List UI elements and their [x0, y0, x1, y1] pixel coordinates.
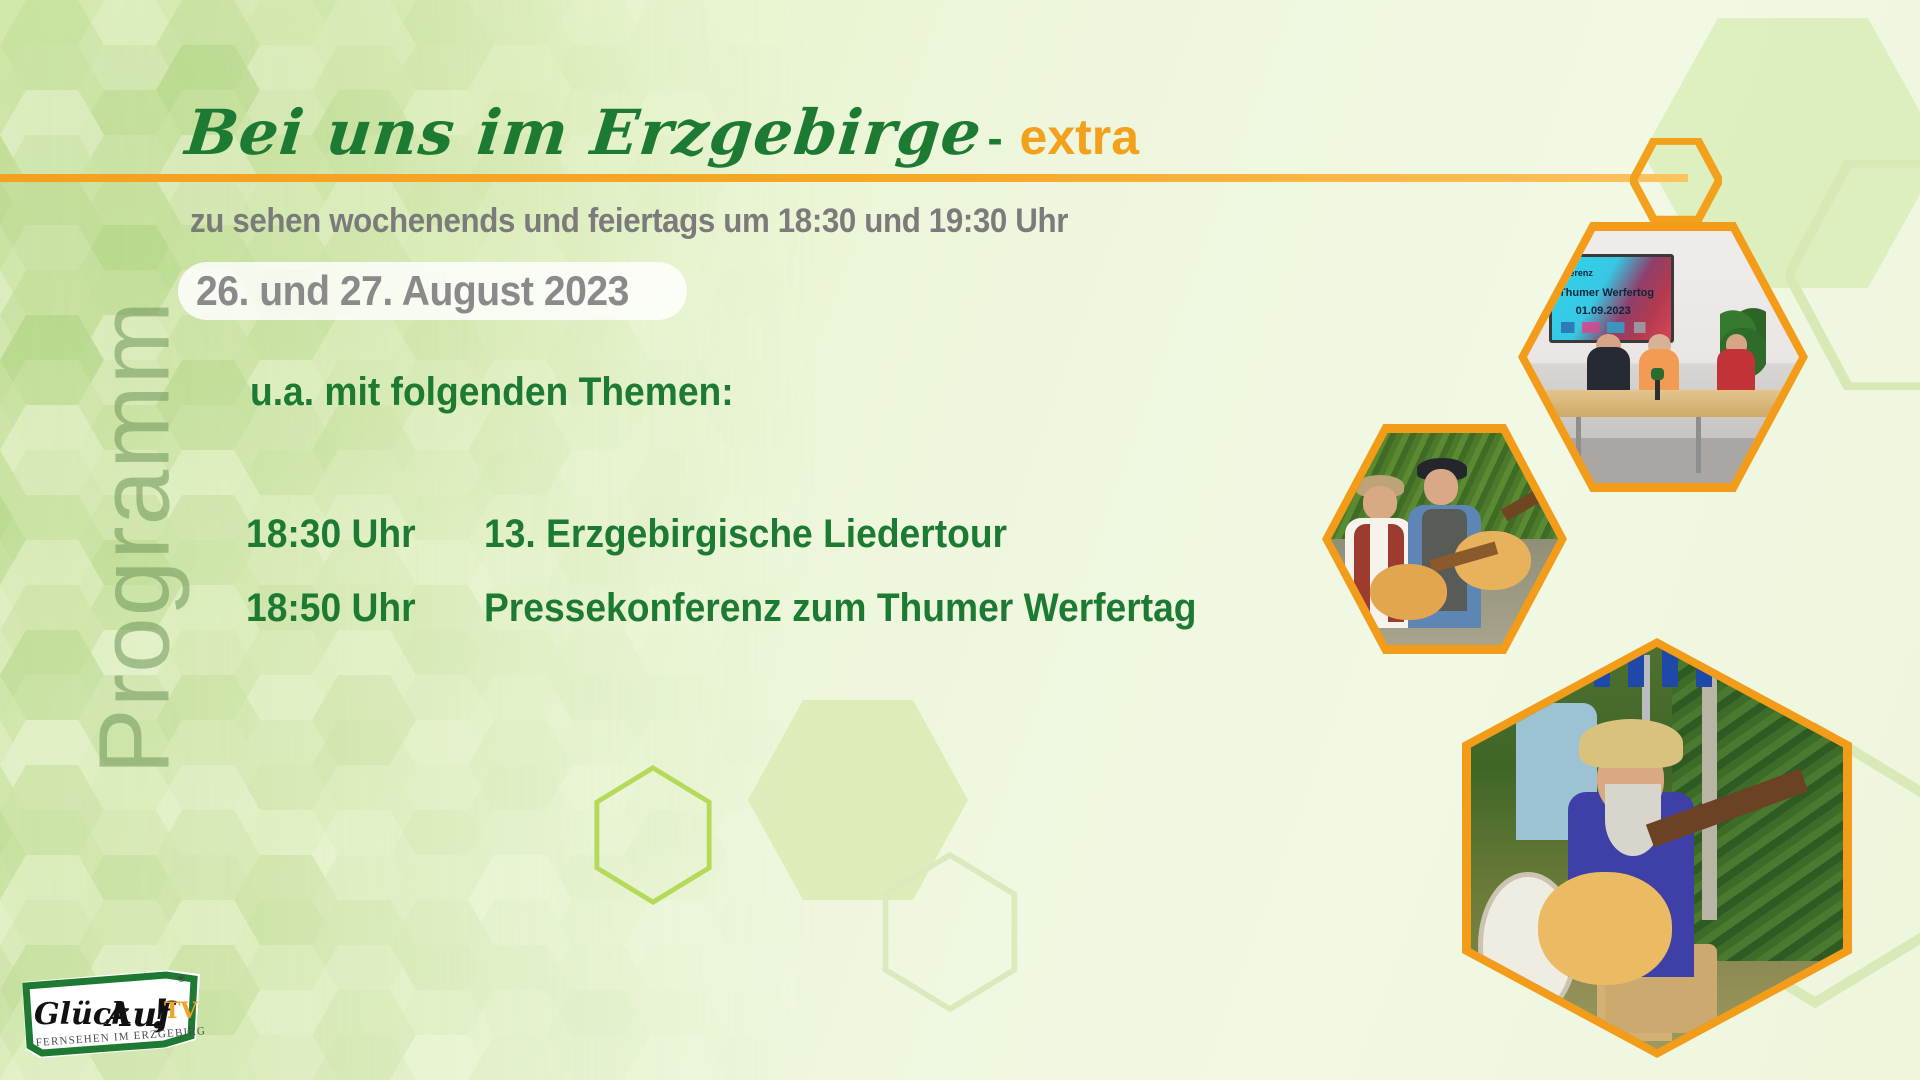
page-title: Bei uns im Erzgebirge-extra	[182, 96, 1143, 169]
header-divider-rule	[0, 174, 1688, 182]
schedule-time: 18:30 Uhr	[246, 512, 467, 557]
honeycomb-cell	[858, 270, 962, 360]
hexagon-photo-clip	[1471, 647, 1843, 1049]
musician1-head	[1363, 486, 1397, 520]
honeycomb-cell	[858, 1035, 962, 1080]
topics-intro-text: u.a. mit folgenden Themen:	[250, 370, 734, 415]
title-dash: -	[987, 111, 1003, 165]
air-date-text: 26. und 27. August 2023	[196, 267, 629, 315]
logo-registered-mark: ®	[178, 974, 185, 984]
schedule-row: 18:50 UhrPressekonferenz zum Thumer Werf…	[246, 586, 1250, 660]
broadcast-times-subtitle: zu sehen wochenends und feiertags um 18:…	[190, 202, 1068, 241]
schedule-list: 18:30 Uhr13. Erzgebirgische Liedertour18…	[246, 512, 1250, 660]
guitar1-body	[1370, 564, 1447, 619]
guitar-body	[1538, 872, 1672, 985]
title-extra-text: extra	[1020, 108, 1140, 166]
musician2-head	[1424, 469, 1458, 505]
broadcast-programme-slide: Bei uns im Erzgebirge-extra zu sehen woc…	[0, 0, 1920, 1080]
title-main-text: Bei uns im Erzgebirge	[182, 96, 985, 169]
schedule-title: Pressekonferenz zum Thumer Werfertag	[484, 586, 1197, 631]
screen-caption-line3: 01.09.2023	[1576, 305, 1631, 317]
air-date-badge: 26. und 27. August 2023	[178, 262, 687, 320]
honeycomb-cell	[858, 360, 962, 450]
tree-trunk	[1702, 671, 1717, 920]
schedule-row: 18:30 Uhr13. Erzgebirgische Liedertour	[246, 512, 1250, 586]
microphone-head	[1651, 368, 1665, 379]
orange-hexagon-accent-icon	[1630, 138, 1722, 222]
logo-tv-text: TV	[164, 998, 198, 1024]
photo-hexagon-two-musicians[interactable]	[1322, 424, 1567, 654]
conference-table	[1532, 390, 1793, 418]
schedule-title: 13. Erzgebirgische Liedertour	[484, 512, 1007, 557]
bearded-guitarist-scene	[1471, 647, 1843, 1049]
sponsor-logo-strip	[1561, 322, 1657, 334]
photo-hexagon-bearded-guitarist[interactable]	[1462, 638, 1852, 1058]
glueckauf-tv-logo[interactable]: Glück Auf ! TV ® FERNSEHEN IM ERZGEBIRGE	[18, 966, 206, 1062]
schedule-time: 18:50 Uhr	[246, 586, 467, 631]
decorative-hexagon-outline-bright	[592, 765, 714, 905]
honeycomb-cell	[858, 405, 962, 495]
table-leg-right	[1696, 417, 1701, 472]
honeycomb-cell	[858, 315, 962, 405]
screen-caption-line2: Thumer Werfertog	[1559, 287, 1654, 299]
decorative-hexagon-outline-faint	[880, 852, 1020, 1012]
guitarist-straw-hat	[1579, 719, 1683, 767]
honeycomb-cell	[858, 0, 962, 90]
